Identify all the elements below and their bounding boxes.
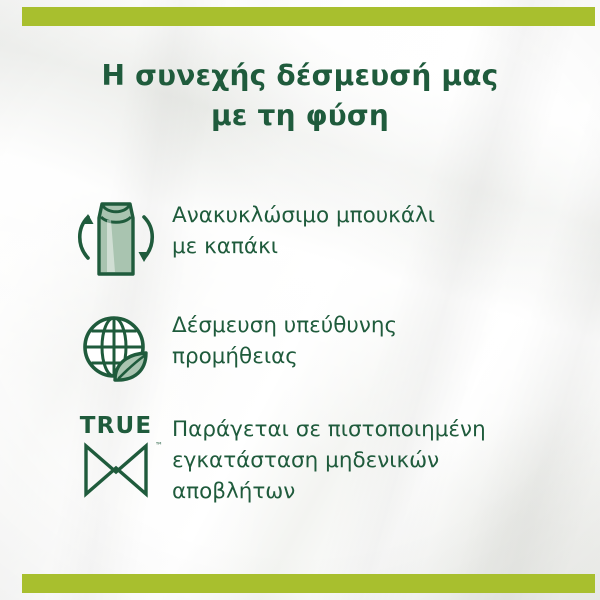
feature-icon-cell [60, 192, 172, 282]
page-title: Η συνεχής δέσμευσή μας με τη φύση [0, 56, 600, 136]
feature-text-line-2: με καπάκι [172, 231, 435, 262]
recyclable-bottle-icon [71, 196, 161, 282]
true-bowtie-mark-icon [82, 442, 150, 498]
bottom-accent-bar [22, 574, 595, 593]
feature-text-line-1: Παράγεται σε πιστοποιημένη [172, 414, 486, 445]
feature-text-line-1: Δέσμευση υπεύθυνης [172, 310, 397, 341]
feature-text-line-2: εγκατάσταση μηδενικών [172, 445, 486, 476]
true-wordmark: TRUE [80, 414, 153, 439]
feature-text-line-2: προμήθειας [172, 341, 397, 372]
true-zero-waste-logo: TRUE ™ [80, 414, 153, 502]
feature-text-line-1: Ανακυκλώσιμο μπουκάλι [172, 200, 435, 231]
feature-text-line-3: αποβλήτων [172, 476, 486, 507]
page-title-line-1: Η συνεχής δέσμευσή μας [0, 56, 600, 96]
feature-list: Ανακυκλώσιμο μπουκάλι με καπάκι [0, 192, 600, 526]
trademark-symbol: ™ [155, 442, 163, 450]
feature-row-zero-waste-facility: TRUE ™ Παράγεται σε πιστοποιημένη εγκατά… [0, 406, 600, 526]
sustainability-info-panel: Η συνεχής δέσμευσή μας με τη φύση [0, 0, 600, 600]
feature-text-zero-waste-facility: Παράγεται σε πιστοποιημένη εγκατάσταση μ… [172, 406, 486, 507]
feature-text-responsible-sourcing: Δέσμευση υπεύθυνης προμήθειας [172, 302, 397, 372]
top-accent-bar [22, 7, 595, 26]
feature-row-recyclable-bottle: Ανακυκλώσιμο μπουκάλι με καπάκι [0, 192, 600, 302]
true-mark-wrap: ™ [82, 442, 150, 502]
feature-icon-cell [60, 302, 172, 386]
globe-leaf-icon [79, 312, 153, 386]
feature-text-recyclable-bottle: Ανακυκλώσιμο μπουκάλι με καπάκι [172, 192, 435, 262]
feature-row-responsible-sourcing: Δέσμευση υπεύθυνης προμήθειας [0, 302, 600, 406]
page-title-line-2: με τη φύση [0, 96, 600, 136]
feature-icon-cell: TRUE ™ [60, 406, 172, 502]
